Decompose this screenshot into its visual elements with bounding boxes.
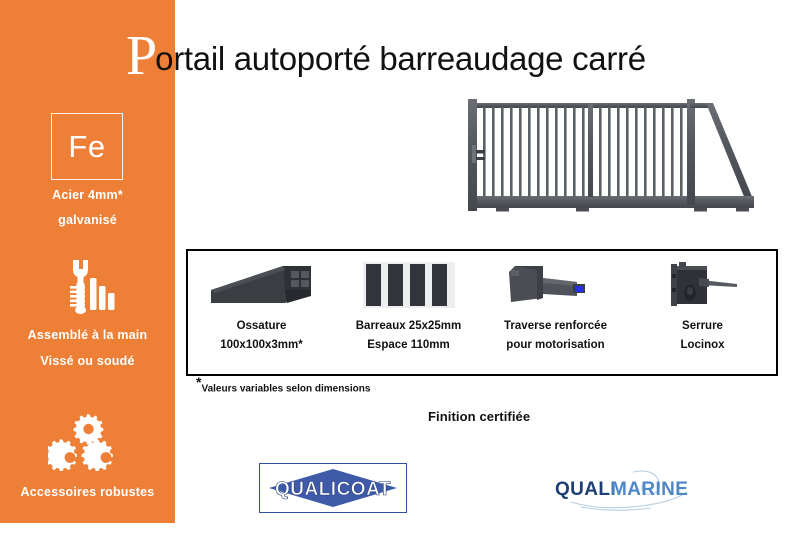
svg-text:QUALI: QUALI bbox=[555, 479, 616, 500]
gears-icon bbox=[0, 412, 175, 474]
sidebar-item-1-line1: Assemblé à la main bbox=[0, 328, 175, 342]
qualimarine-logo: QUALI MARINE bbox=[541, 466, 709, 512]
feature-2-line2: pour motorisation bbox=[504, 336, 607, 355]
sliding-cantilever-gate-illustration bbox=[466, 93, 776, 221]
feature-3-line1: Serrure bbox=[680, 317, 724, 336]
poster-page: Fe Acier 4mm* galvanisé As bbox=[0, 0, 800, 534]
feature-item-serrure: Serrure Locinox bbox=[629, 251, 776, 374]
certification-heading: Finition certifiée bbox=[428, 409, 530, 424]
feature-item-traverse: Traverse renforcée pour motorisation bbox=[482, 251, 629, 374]
feature-0-line1: Ossature bbox=[220, 317, 303, 336]
sidebar-item-1-line2: Vissé ou soudé bbox=[0, 354, 175, 368]
fe-element-box-icon: Fe bbox=[51, 113, 123, 180]
sidebar-item-0-line2: galvanisé bbox=[0, 213, 175, 227]
features-box: Ossature 100x100x3mm* Barreaux 25x25mm E… bbox=[186, 249, 778, 376]
sidebar-item-0-line1: Acier 4mm* bbox=[0, 188, 175, 202]
title-text: ortail autoporté barreaudage carré bbox=[155, 40, 646, 78]
steel-profile-icon bbox=[207, 259, 317, 311]
sidebar-item-2-line1: Accessoires robustes bbox=[0, 485, 175, 499]
feature-1-line1: Barreaux 25x25mm bbox=[356, 317, 462, 336]
qualicoat-logo: QUALICOAT bbox=[259, 463, 407, 513]
motor-crossbeam-icon bbox=[501, 259, 611, 311]
feature-0-line2: 100x100x3mm* bbox=[220, 336, 303, 355]
page-title: P ortail autoporté barreaudage carré bbox=[126, 26, 646, 86]
footnote: *Valeurs variables selon dimensions bbox=[196, 382, 370, 394]
footnote-text: Valeurs variables selon dimensions bbox=[201, 383, 370, 394]
feature-3-line2: Locinox bbox=[680, 336, 724, 355]
feature-1-line2: Espace 110mm bbox=[356, 336, 462, 355]
fe-symbol: Fe bbox=[68, 129, 105, 165]
vertical-bars-icon bbox=[363, 259, 455, 311]
hand-assembly-tools-icon bbox=[0, 258, 175, 316]
feature-item-ossature: Ossature 100x100x3mm* bbox=[188, 251, 335, 374]
svg-text:QUALICOAT: QUALICOAT bbox=[275, 479, 391, 500]
title-initial: P bbox=[126, 30, 157, 82]
feature-2-line1: Traverse renforcée bbox=[504, 317, 607, 336]
svg-text:MARINE: MARINE bbox=[611, 479, 688, 500]
lock-icon bbox=[657, 259, 749, 311]
feature-item-barreaux: Barreaux 25x25mm Espace 110mm bbox=[335, 251, 482, 374]
